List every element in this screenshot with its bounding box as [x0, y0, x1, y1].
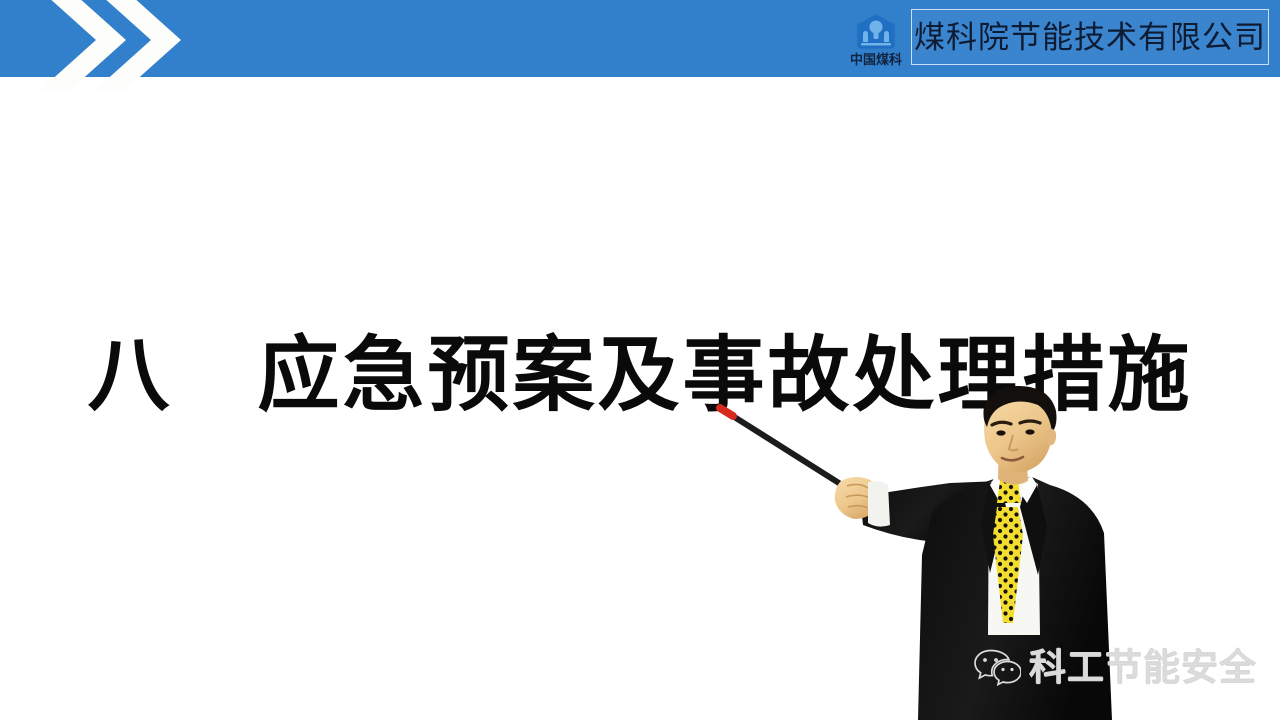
presenter-with-pointer-image: [700, 385, 1200, 720]
brand-logo-text: 中国煤科: [850, 53, 902, 66]
company-name-text: 煤科院节能技术有限公司: [914, 22, 1266, 53]
page-title: 八 应急预案及事故处理措施: [0, 333, 1280, 419]
company-name-box: 煤科院节能技术有限公司: [911, 9, 1269, 65]
necktie: [985, 503, 1033, 628]
presentation-slide: 中国煤科 煤科院节能技术有限公司 八 应急预案及事故处理措施: [0, 0, 1280, 720]
brand-logo: 中国煤科: [840, 7, 912, 71]
double-chevron-right-icon: [38, 0, 208, 92]
watermark-text: 科工节能安全: [1029, 649, 1257, 686]
china-coal-technology-emblem-icon: [852, 12, 900, 52]
wechat-watermark: 科工节能安全: [973, 643, 1257, 691]
wechat-icon: [973, 647, 1021, 687]
